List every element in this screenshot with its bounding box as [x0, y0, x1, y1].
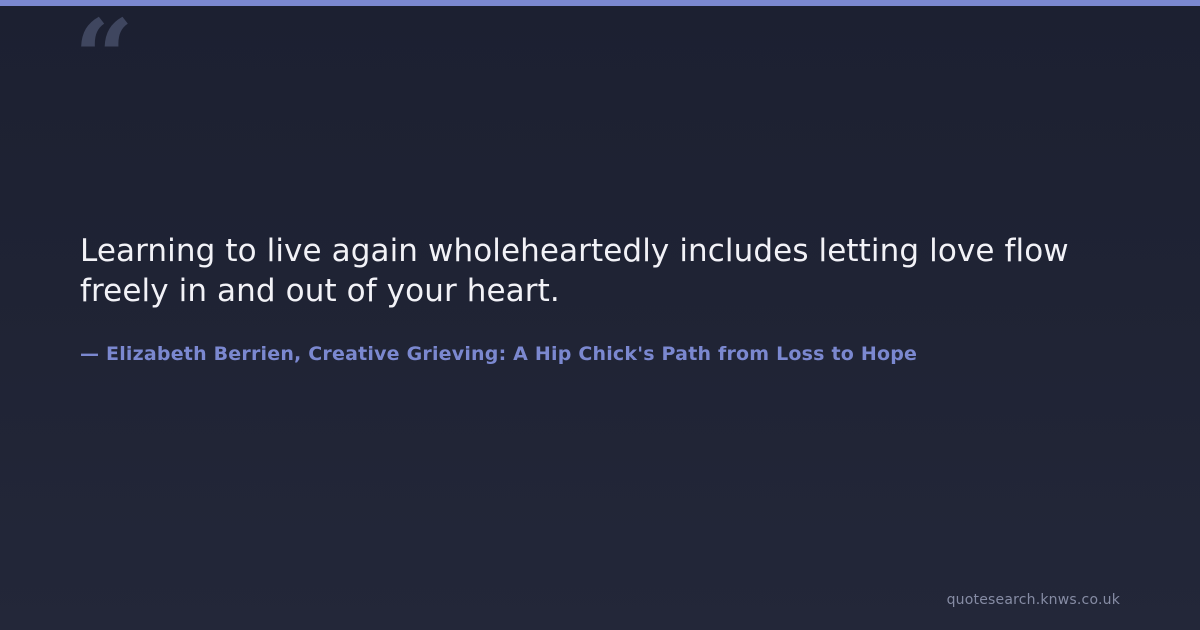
quote-card: “ Learning to live again wholeheartedly …: [0, 0, 1200, 630]
site-watermark: quotesearch.knws.co.uk: [947, 592, 1120, 608]
quote-content: Learning to live again wholeheartedly in…: [80, 232, 1130, 367]
quote-attribution: — Elizabeth Berrien, Creative Grieving: …: [80, 311, 1130, 367]
top-accent-bar: [0, 0, 1200, 6]
quotation-mark-icon: “: [74, 6, 132, 110]
quote-text: Learning to live again wholeheartedly in…: [80, 232, 1120, 311]
